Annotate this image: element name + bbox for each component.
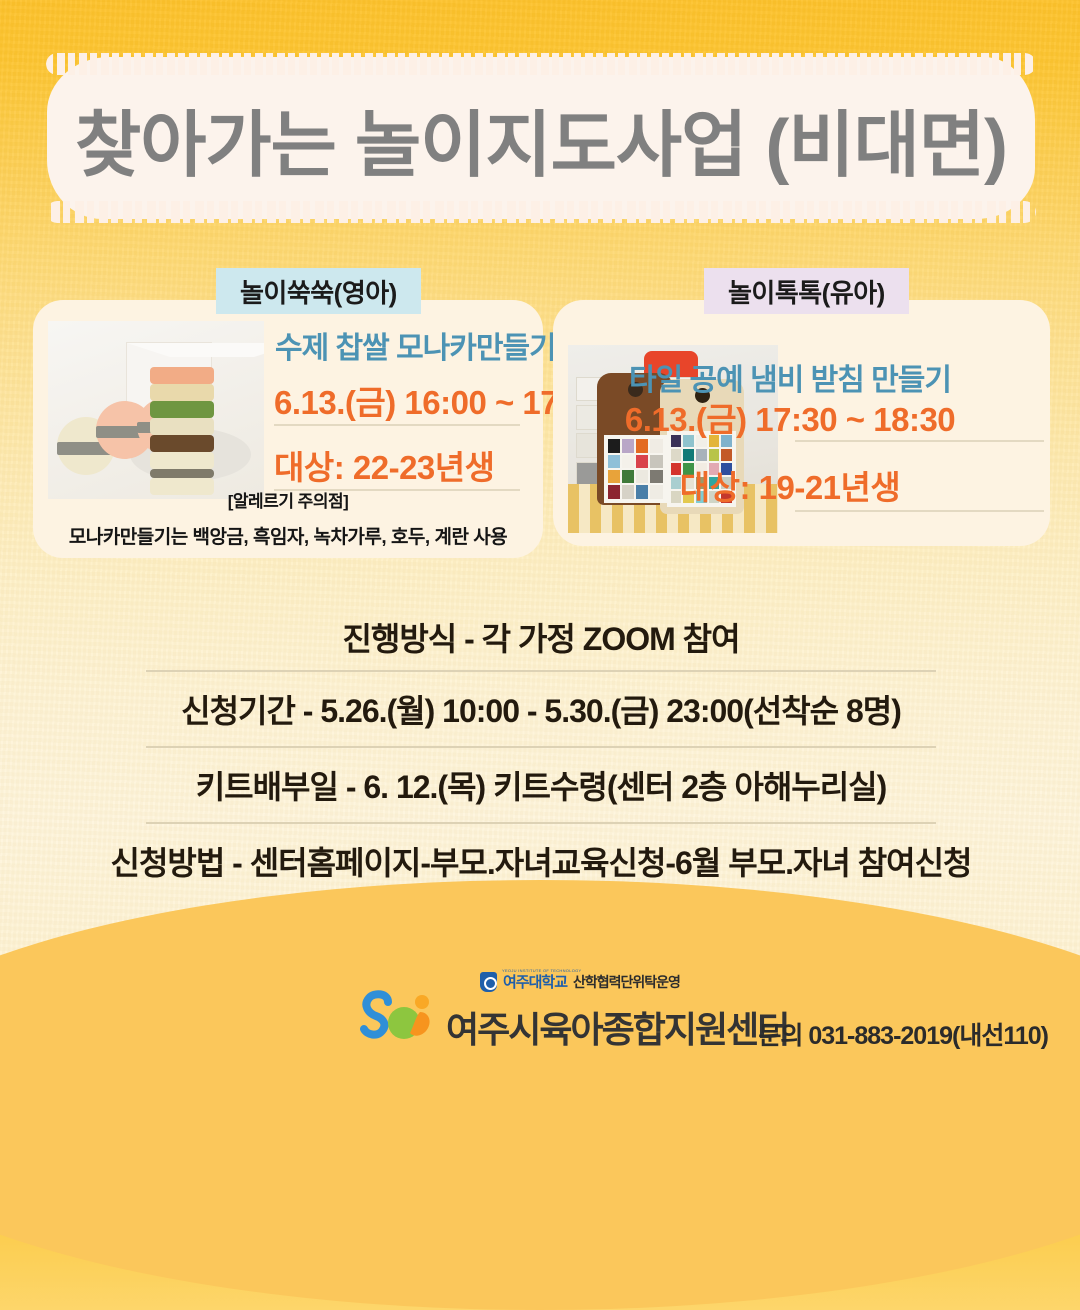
sc-logo-icon [358, 990, 436, 1048]
allergy-body: 모나카만들기는 백앙금, 흑임자, 녹차가루, 호두, 계란 사용 [33, 522, 543, 549]
footer: 여주대학교 산학협력단위탁운영 YEOJU INSTITUTE OF TECHN… [0, 930, 1080, 1080]
university-shield-icon [480, 972, 497, 992]
contact-info: 문의 031-883-2019(내선110) [758, 1016, 1048, 1052]
university-credit: 여주대학교 산학협력단위탁운영 YEOJU INSTITUTE OF TECHN… [480, 971, 680, 992]
info-divider [146, 822, 936, 824]
activity-target-infant: 대상: 22-23년생 [274, 441, 495, 489]
activity-target-toddler: 대상: 19-21년생 [680, 461, 901, 509]
card-divider [795, 440, 1044, 442]
monaka-rice-cakes-photo [48, 321, 264, 499]
activity-title-infant: 수제 찹쌀 모나카만들기 [275, 323, 556, 367]
card-divider [795, 510, 1044, 512]
university-name: 여주대학교 [503, 971, 567, 992]
info-row-period: 신청기간 - 5.26.(월) 10:00 - 5.30.(금) 23:00(선… [146, 678, 936, 740]
university-tagline: YEOJU INSTITUTE OF TECHNOLOGY [502, 968, 582, 973]
operation-label: 산학협력단위탁운영 [573, 972, 680, 992]
page-title: 찾아가는 놀이지도사업 (비대면) [52, 62, 1030, 214]
organization-logo: 여주시육아종합지원센터 [358, 990, 788, 1048]
card-divider [274, 424, 520, 426]
activity-date-toddler: 6.13.(금) 17:30 ~ 18:30 [625, 393, 955, 441]
info-divider [146, 670, 936, 672]
info-row-kit: 키트배부일 - 6. 12.(목) 키트수령(센터 2층 아해누리실) [146, 754, 936, 816]
title-banner: 찾아가는 놀이지도사업 (비대면) [52, 62, 1030, 214]
info-row-method: 진행방식 - 각 가정 ZOOM 참여 [146, 610, 936, 664]
program-badge-toddler: 놀이톡톡(유아) [704, 268, 909, 314]
allergy-heading: [알레르기 주의점] [33, 487, 543, 512]
organization-name: 여주시육아종합지원센터 [446, 1012, 788, 1048]
program-badge-infant: 놀이쑥쑥(영아) [216, 268, 421, 314]
info-divider [146, 746, 936, 748]
